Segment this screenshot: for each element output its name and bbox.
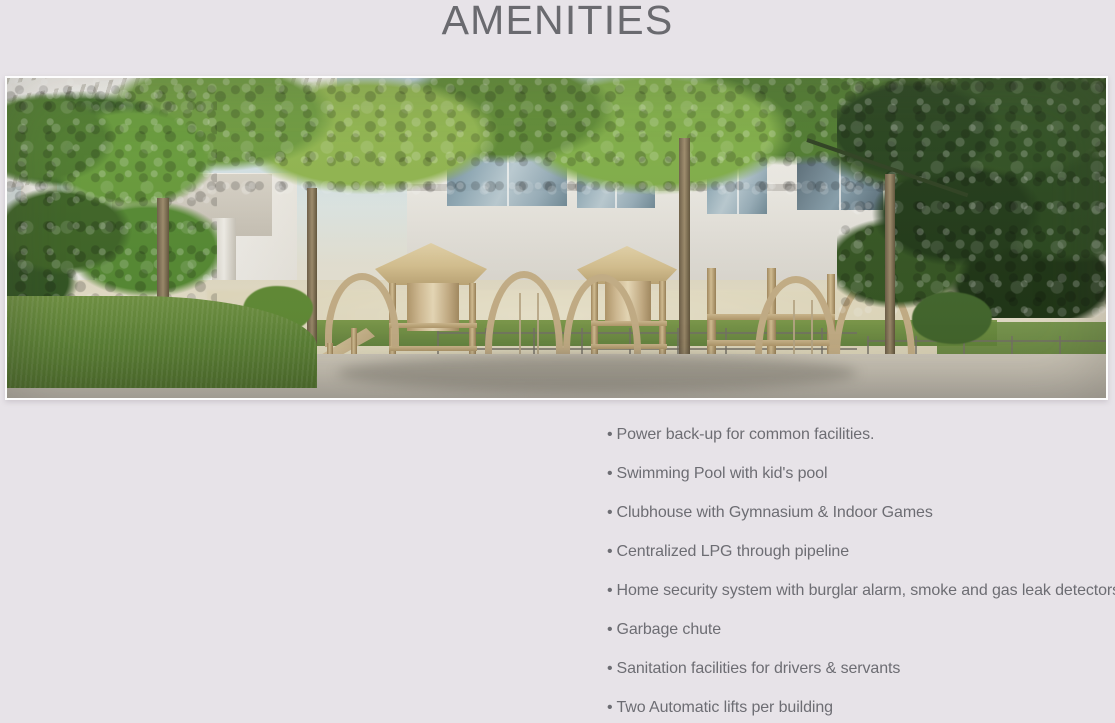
amenities-hero-image [7, 78, 1106, 398]
bullet-icon: • [607, 541, 613, 563]
bullet-icon: • [607, 619, 613, 641]
bullet-icon: • [607, 697, 613, 719]
amenity-list-item: •Clubhouse with Gymnasium & Indoor Games [607, 502, 1115, 541]
amenity-list-item: •Sanitation facilities for drivers & ser… [607, 658, 1115, 697]
tree-right [837, 78, 1106, 318]
bullet-icon: • [607, 580, 613, 602]
bullet-icon: • [607, 658, 613, 680]
playground-rail [389, 346, 477, 351]
amenities-list: •Power back-up for common facilities. •S… [607, 424, 1115, 723]
amenity-list-item: •Power back-up for common facilities. [607, 424, 1115, 463]
amenity-list-item: •Garbage chute [607, 619, 1115, 658]
amenity-text: Power back-up for common facilities. [617, 426, 875, 443]
hero-image-frame [5, 76, 1108, 400]
amenity-text: Home security system with burglar alarm,… [617, 582, 1115, 599]
leaf-texture [7, 88, 217, 318]
bullet-icon: • [607, 502, 613, 524]
amenity-text: Centralized LPG through pipeline [617, 543, 850, 560]
amenity-text: Garbage chute [617, 621, 722, 638]
amenity-list-item: •Centralized LPG through pipeline [607, 541, 1115, 580]
page-title: AMENITIES [0, 0, 1115, 46]
bullet-icon: • [607, 424, 613, 446]
amenity-text: Two Automatic lifts per building [617, 699, 833, 716]
shrub [912, 292, 992, 344]
amenity-list-item: •Two Automatic lifts per building [607, 697, 1115, 723]
leaf-texture [837, 78, 1106, 318]
amenity-text: Swimming Pool with kid's pool [617, 465, 828, 482]
playground-rail [389, 323, 477, 328]
tree-left [7, 88, 217, 318]
amenity-text: Sanitation facilities for drivers & serv… [617, 660, 901, 677]
amenity-text: Clubhouse with Gymnasium & Indoor Games [617, 504, 933, 521]
bullet-icon: • [607, 463, 613, 485]
amenity-list-item: •Home security system with burglar alarm… [607, 580, 1115, 619]
amenity-list-item: •Swimming Pool with kid's pool [607, 463, 1115, 502]
ground-shadow [337, 354, 857, 392]
